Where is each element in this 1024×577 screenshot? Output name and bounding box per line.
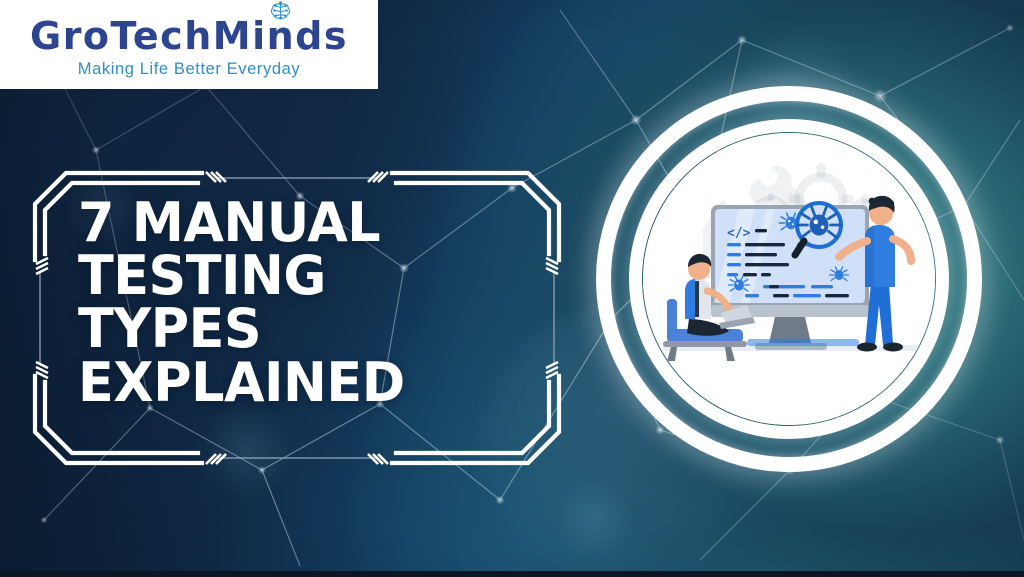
brand-logo-card[interactable]: GroTechMinds Making Life Better Everyday	[0, 0, 378, 89]
brand-tagline: Making Life Better Everyday	[78, 60, 301, 79]
brand-wordmark: GroTechMinds	[30, 17, 348, 55]
page-title: 7 MANUAL TESTING TYPES EXPLAINED	[78, 196, 548, 409]
software-testing-illustration: </>	[643, 133, 935, 425]
illustration-disc: </>	[643, 133, 935, 425]
svg-text:</>: </>	[727, 226, 751, 241]
illustration-circle: </>	[596, 86, 982, 472]
title-line-4: EXPLAINED	[78, 356, 534, 409]
title-line-3: TYPES	[78, 302, 534, 355]
title-line-1: 7 MANUAL	[78, 196, 534, 249]
banner-canvas: GroTechMinds Making Life Better Everyday	[0, 0, 1024, 577]
title-line-2: TESTING	[78, 249, 534, 302]
bottom-edge-bar	[0, 571, 1024, 577]
brand-wordmark-text: GroTechMinds	[30, 14, 348, 58]
brain-icon	[268, 0, 293, 23]
